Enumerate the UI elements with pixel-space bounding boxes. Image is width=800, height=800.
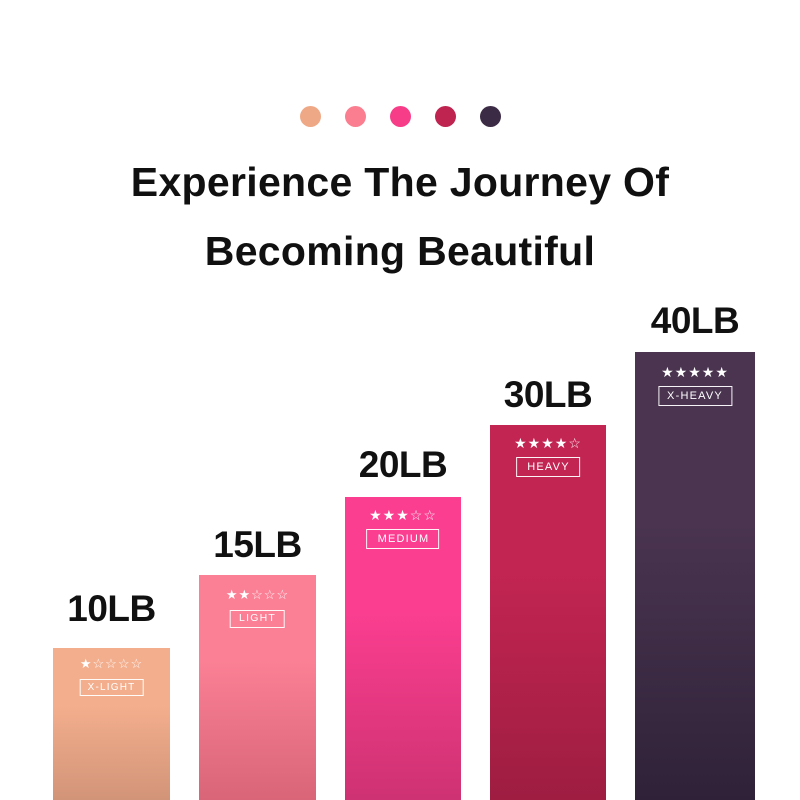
weight-label-10lb: 10LB — [67, 588, 155, 630]
star-filled-icon: ★ — [514, 435, 528, 451]
bar-group-40lb[interactable]: 40LB★★★★★X-HEAVY — [635, 0, 755, 800]
star-filled-icon: ★ — [688, 364, 702, 380]
star-filled-icon: ★ — [396, 507, 410, 523]
level-badge-medium: MEDIUM — [367, 529, 440, 549]
star-rating-40lb: ★★★★★ — [643, 365, 746, 379]
star-filled-icon: ★ — [528, 435, 542, 451]
bar-group-30lb[interactable]: 30LB★★★★☆HEAVY — [490, 0, 606, 800]
badge-block-heavy: ★★★★☆HEAVY — [498, 436, 598, 477]
star-filled-icon: ★ — [715, 364, 729, 380]
badge-block-light: ★★☆☆☆LIGHT — [207, 588, 308, 628]
star-empty-icon: ☆ — [251, 587, 264, 602]
star-empty-icon: ☆ — [276, 587, 289, 602]
star-rating-20lb: ★★★☆☆ — [353, 508, 453, 522]
star-rating-15lb: ★★☆☆☆ — [207, 588, 308, 601]
resistance-bar-chart: 10LB★☆☆☆☆X-LIGHT15LB★★☆☆☆LIGHT20LB★★★☆☆M… — [0, 0, 800, 800]
star-empty-icon: ☆ — [568, 435, 582, 451]
bar-group-15lb[interactable]: 15LB★★☆☆☆LIGHT — [199, 0, 316, 800]
star-filled-icon: ★ — [226, 587, 239, 602]
weight-label-20lb: 20LB — [359, 444, 447, 486]
bar-40lb[interactable] — [635, 352, 755, 800]
star-rating-30lb: ★★★★☆ — [498, 436, 598, 450]
star-empty-icon: ☆ — [105, 656, 118, 671]
bar-group-10lb[interactable]: 10LB★☆☆☆☆X-LIGHT — [53, 0, 170, 800]
star-empty-icon: ☆ — [118, 656, 131, 671]
star-empty-icon: ☆ — [264, 587, 277, 602]
star-filled-icon: ★ — [541, 435, 555, 451]
star-filled-icon: ★ — [661, 364, 675, 380]
star-filled-icon: ★ — [369, 507, 383, 523]
level-badge-x-light: X-LIGHT — [80, 679, 144, 696]
level-badge-heavy: HEAVY — [516, 457, 579, 477]
badge-block-x-light: ★☆☆☆☆X-LIGHT — [61, 657, 162, 696]
badge-block-medium: ★★★☆☆MEDIUM — [353, 508, 453, 549]
star-filled-icon: ★ — [383, 507, 397, 523]
star-filled-icon: ★ — [239, 587, 252, 602]
star-empty-icon: ☆ — [423, 507, 437, 523]
star-filled-icon: ★ — [555, 435, 569, 451]
badge-block-x-heavy: ★★★★★X-HEAVY — [643, 365, 746, 406]
star-filled-icon: ★ — [702, 364, 716, 380]
level-badge-light: LIGHT — [230, 610, 285, 628]
infographic-page: Experience The Journey Of Becoming Beaut… — [0, 0, 800, 800]
weight-label-40lb: 40LB — [651, 300, 739, 342]
bar-30lb[interactable] — [490, 425, 606, 800]
weight-label-15lb: 15LB — [213, 524, 301, 566]
star-filled-icon: ★ — [675, 364, 689, 380]
bar-group-20lb[interactable]: 20LB★★★☆☆MEDIUM — [345, 0, 461, 800]
star-empty-icon: ☆ — [410, 507, 424, 523]
star-rating-10lb: ★☆☆☆☆ — [61, 657, 162, 670]
level-badge-x-heavy: X-HEAVY — [658, 386, 732, 406]
weight-label-30lb: 30LB — [504, 374, 592, 416]
star-empty-icon: ☆ — [130, 656, 143, 671]
star-empty-icon: ☆ — [93, 656, 106, 671]
star-filled-icon: ★ — [80, 656, 93, 671]
